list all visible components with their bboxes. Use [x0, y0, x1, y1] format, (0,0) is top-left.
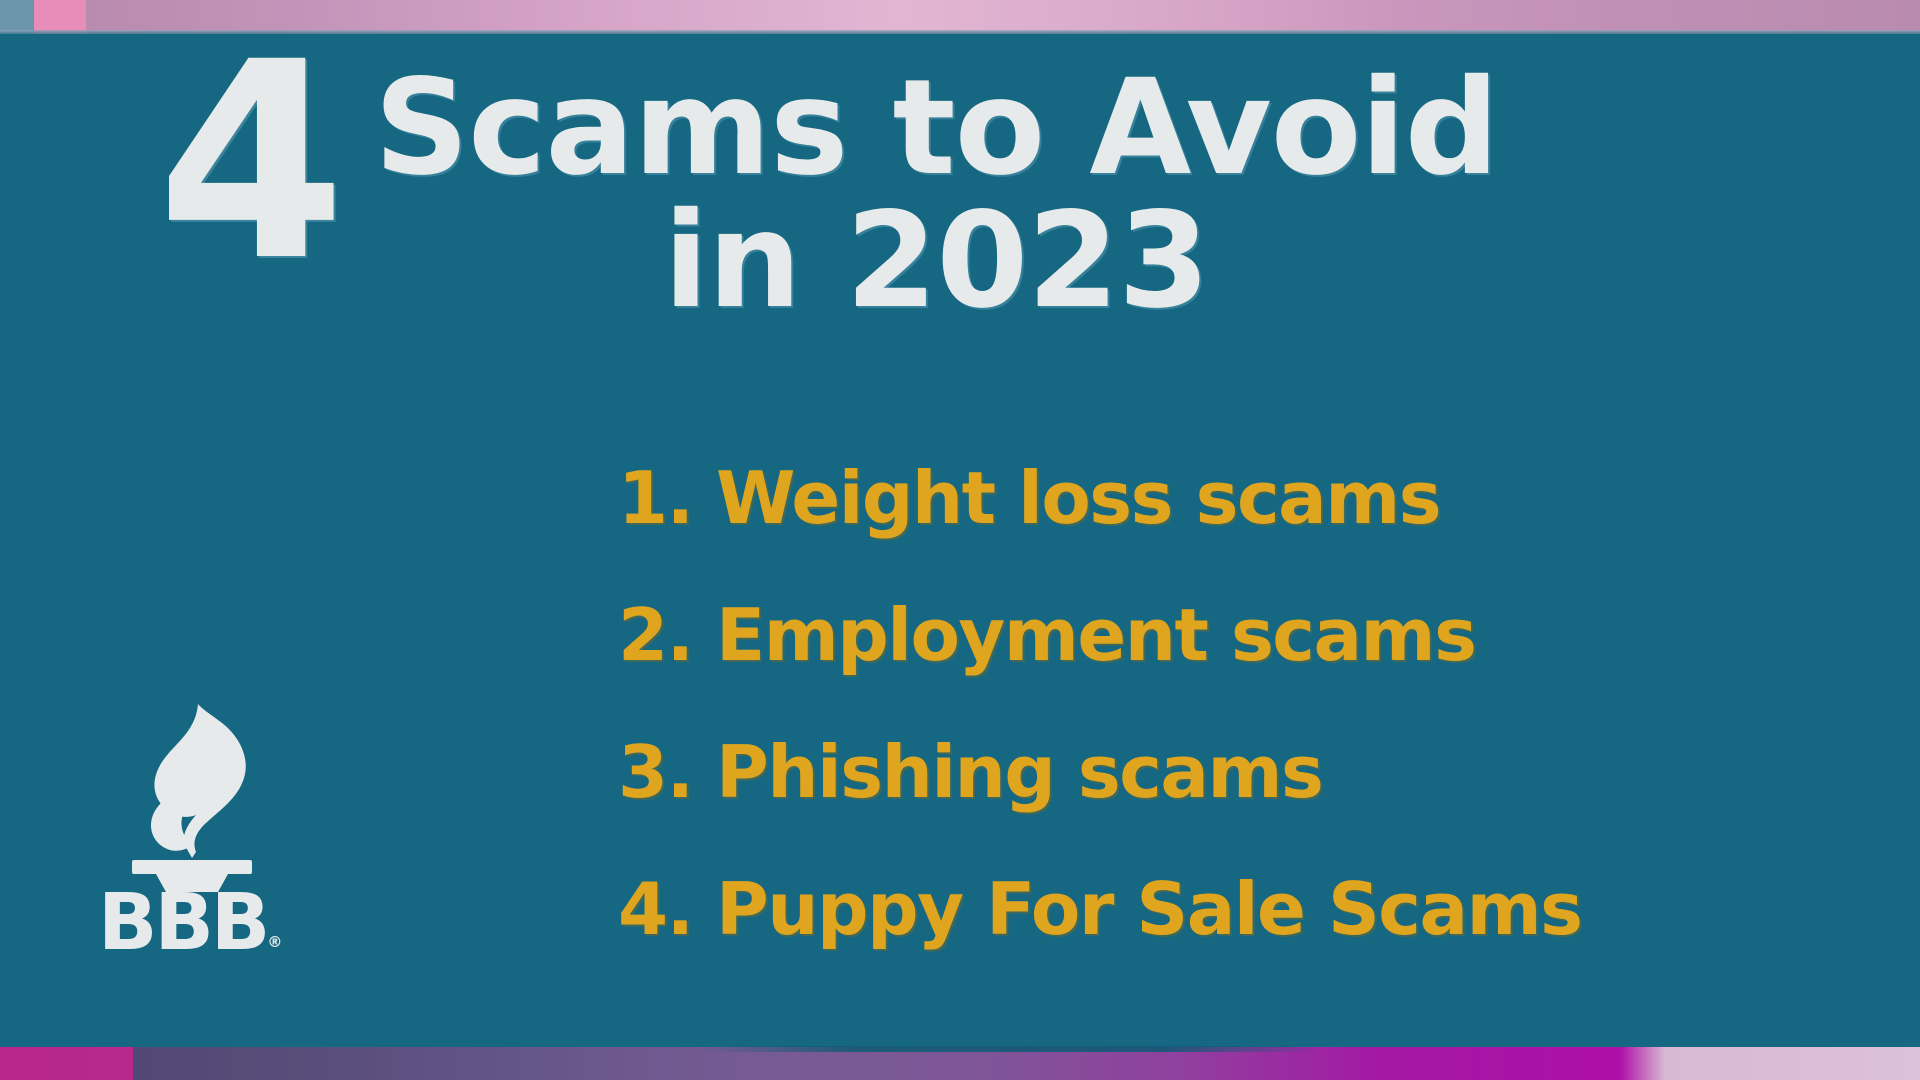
bbb-wordmark-text: BBB: [98, 878, 267, 968]
headline-line-1: Scams to Avoid: [374, 64, 1498, 193]
list-item-4: 4. Puppy For Sale Scams: [618, 873, 1718, 945]
bbb-wordmark: BBB®: [98, 884, 288, 962]
list-item-3: 3. Phishing scams: [618, 736, 1718, 808]
list-item-1: 1. Weight loss scams: [618, 462, 1718, 534]
scam-list: 1. Weight loss scams 2. Employment scams…: [618, 462, 1718, 945]
registered-trademark-icon: ®: [267, 933, 282, 951]
bbb-logo: BBB®: [98, 702, 288, 972]
broadcast-graphic-frame: 4 Scams to Avoid in 2023 1. Weight loss …: [0, 0, 1920, 1080]
headline-row: 4 Scams to Avoid in 2023: [0, 50, 1655, 327]
headline-block: 4 Scams to Avoid in 2023: [0, 50, 1655, 327]
headline-number: 4: [157, 52, 340, 275]
list-item-2: 2. Employment scams: [618, 599, 1718, 671]
bbb-torch-icon: [126, 702, 258, 892]
bottom-band-teal-edge: [700, 1046, 1320, 1052]
headline-text: Scams to Avoid in 2023: [374, 64, 1498, 327]
headline-line-2: in 2023: [374, 197, 1498, 326]
